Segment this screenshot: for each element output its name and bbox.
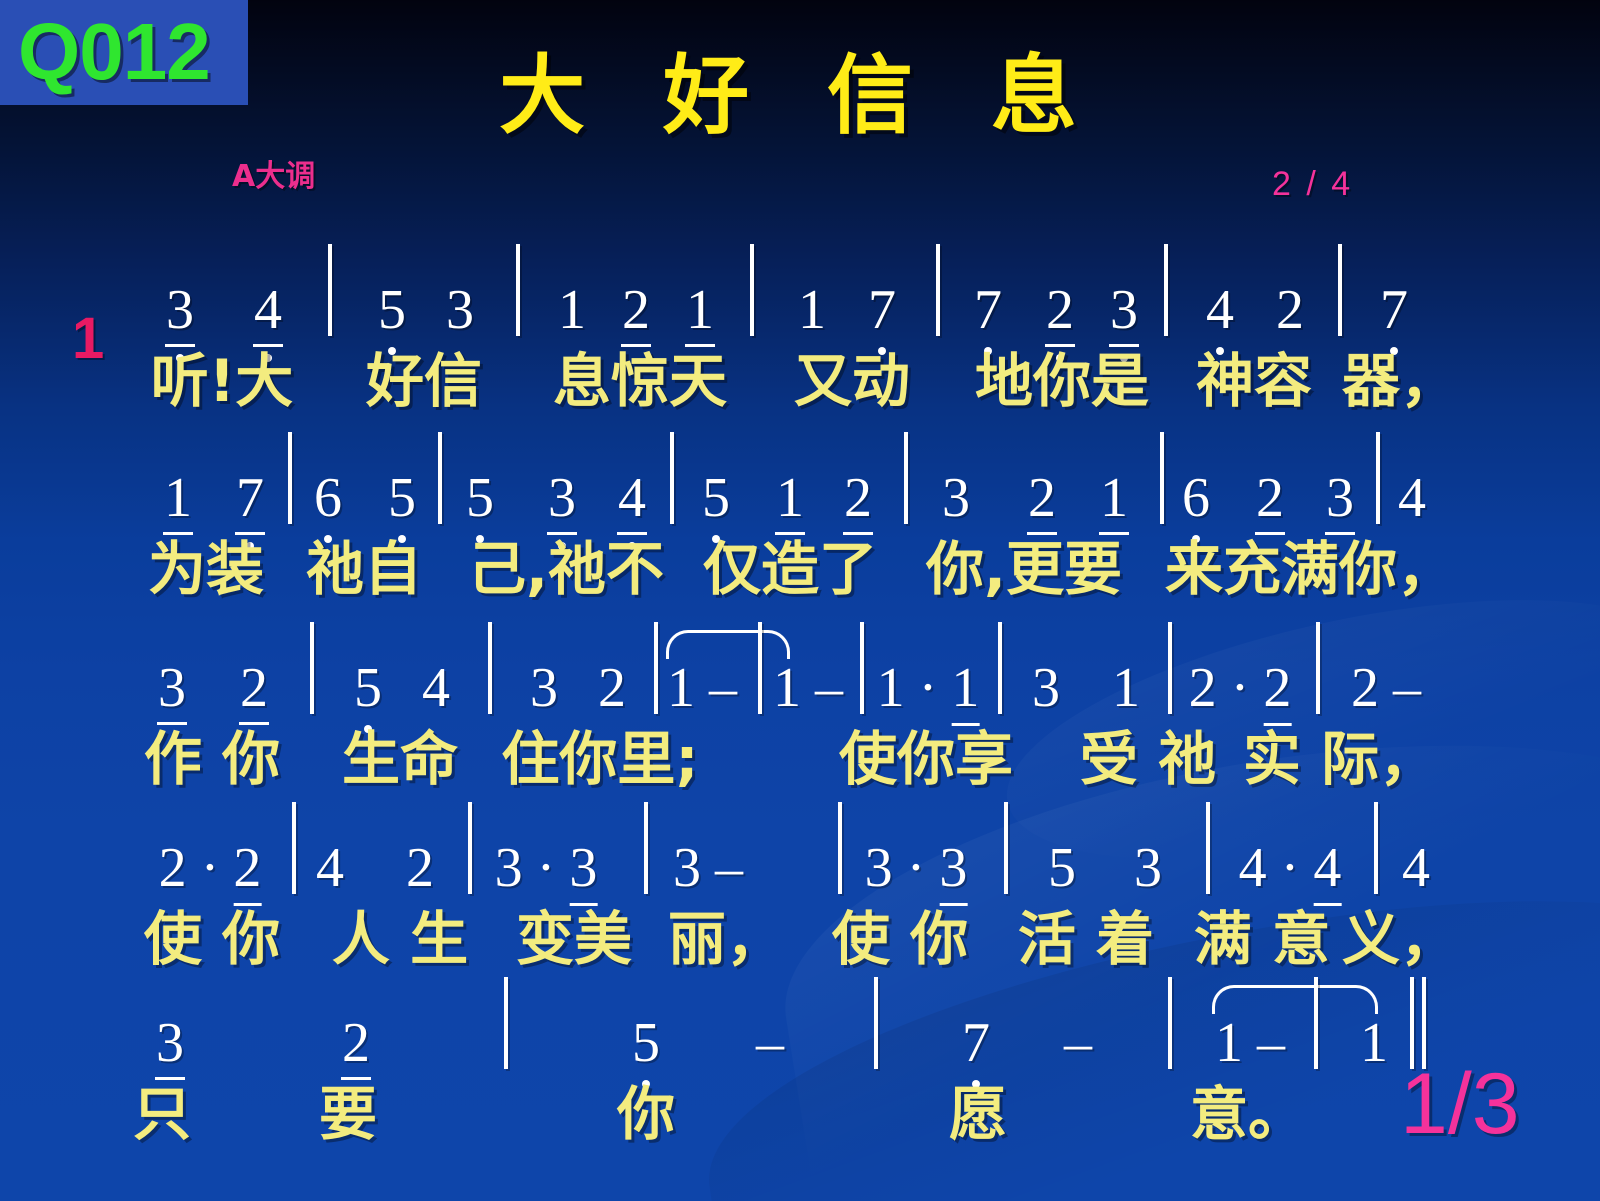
lyric-text: 人 生 xyxy=(332,908,468,970)
note: 3 xyxy=(548,470,576,526)
note: 3 – xyxy=(673,840,743,896)
key-signature-label: A大调 xyxy=(232,160,315,194)
note: 3 xyxy=(158,660,186,716)
verse-number-label: 1 xyxy=(72,308,104,370)
lyric-text: 听!大 xyxy=(151,350,293,412)
barline xyxy=(750,244,754,336)
barline xyxy=(1206,802,1210,894)
lyric-text: 地你是 xyxy=(975,350,1149,412)
lyric-text: 使 你 xyxy=(144,908,280,970)
barline xyxy=(468,802,472,894)
note: 5 xyxy=(388,470,416,526)
barline xyxy=(860,622,864,714)
note: 1 xyxy=(686,282,714,338)
barline xyxy=(654,622,658,714)
tie-arc xyxy=(666,630,790,659)
note: 5 xyxy=(354,660,382,716)
note: 3 xyxy=(1032,660,1060,716)
note: 7 xyxy=(962,1015,990,1071)
lyric-text: 为装 xyxy=(148,538,264,600)
note: 3 · 3 xyxy=(865,840,968,896)
lyric-text: 住你里; xyxy=(501,728,698,790)
lyric-text: 实 际， xyxy=(1243,728,1437,790)
barline xyxy=(1168,977,1172,1069)
note: 3 xyxy=(156,1015,184,1071)
page-title: 大 好 信 息 xyxy=(0,48,1600,144)
barline xyxy=(516,244,520,336)
note: 2 xyxy=(342,1015,370,1071)
note: 4 xyxy=(1402,840,1430,896)
note: 5 xyxy=(1048,840,1076,896)
note: 5 xyxy=(632,1015,660,1071)
note: 4 xyxy=(1206,282,1234,338)
lyric-text: 作 你 xyxy=(144,728,280,790)
barline xyxy=(838,802,842,894)
note: 2 xyxy=(1276,282,1304,338)
note: 5 xyxy=(702,470,730,526)
note: 1 xyxy=(1112,660,1140,716)
note: 1 xyxy=(776,470,804,526)
lyric-text: 使你享 xyxy=(839,728,1013,790)
barline xyxy=(936,244,940,336)
barline xyxy=(288,432,292,524)
note: 4 xyxy=(422,660,450,716)
lyric-text: 仅造了 xyxy=(703,538,877,600)
note: 1 – xyxy=(773,660,843,716)
lyric-text: 己,祂不 xyxy=(468,538,664,600)
barline xyxy=(438,432,442,524)
note: 2 xyxy=(406,840,434,896)
note: – xyxy=(1064,1015,1092,1071)
note: 2 xyxy=(844,470,872,526)
note: 2 xyxy=(1256,470,1284,526)
lyric-text: 息惊天 xyxy=(553,350,727,412)
barline xyxy=(1316,622,1320,714)
barline xyxy=(1314,977,1318,1069)
barline xyxy=(1004,802,1008,894)
barline xyxy=(1376,432,1380,524)
barline xyxy=(904,432,908,524)
note: 4 xyxy=(618,470,646,526)
note: 7 xyxy=(1380,282,1408,338)
lyric-text: 你,更要 xyxy=(926,538,1122,600)
lyric-text: 器， xyxy=(1342,350,1458,412)
note: 3 xyxy=(1134,840,1162,896)
lyric-text: 变美 xyxy=(516,908,632,970)
barline xyxy=(998,622,1002,714)
note: 4 · 4 xyxy=(1239,840,1342,896)
note: 2 xyxy=(1046,282,1074,338)
lyric-text: 来充满你， xyxy=(1165,538,1455,600)
note: 5 xyxy=(378,282,406,338)
note: 4 xyxy=(316,840,344,896)
note: 3 xyxy=(166,282,194,338)
note: 1 – xyxy=(1215,1015,1285,1071)
note: 3 xyxy=(942,470,970,526)
lyric-text: 使 你 xyxy=(832,908,968,970)
note: 3 · 3 xyxy=(495,840,598,896)
barline xyxy=(1168,622,1172,714)
note: 3 xyxy=(530,660,558,716)
note: 3 xyxy=(446,282,474,338)
final-double-barline xyxy=(1410,977,1430,1069)
note: 6 xyxy=(1182,470,1210,526)
barline xyxy=(504,977,508,1069)
lyric-text: 愿 xyxy=(949,1083,1007,1145)
note: 4 xyxy=(254,282,282,338)
barline xyxy=(1374,802,1378,894)
note: – xyxy=(756,1015,784,1071)
note: 1 – xyxy=(667,660,737,716)
barline xyxy=(874,977,878,1069)
note: 3 xyxy=(1110,282,1138,338)
lyric-text: 神容 xyxy=(1196,350,1312,412)
note: 2 – xyxy=(1351,660,1421,716)
lyric-text: 丽， xyxy=(668,908,784,970)
barline xyxy=(644,802,648,894)
barline xyxy=(488,622,492,714)
note: 3 xyxy=(1326,470,1354,526)
note: 7 xyxy=(974,282,1002,338)
note: 6 xyxy=(314,470,342,526)
barline xyxy=(1338,244,1342,336)
note: 7 xyxy=(236,470,264,526)
note: 2 xyxy=(240,660,268,716)
time-signature-label: 2 / 4 xyxy=(1272,165,1353,203)
lyric-text: 生命 xyxy=(342,728,458,790)
note: 1 xyxy=(1360,1015,1388,1071)
lyric-text: 满 意 xyxy=(1194,908,1330,970)
lyric-text: 你 xyxy=(617,1083,675,1145)
note: 1 xyxy=(558,282,586,338)
lyric-text: 活 着 xyxy=(1018,908,1154,970)
lyric-text: 义， xyxy=(1342,908,1458,970)
note: 2 xyxy=(598,660,626,716)
note: 1 xyxy=(164,470,192,526)
lyric-text: 受 祂 xyxy=(1080,728,1216,790)
barline xyxy=(328,244,332,336)
lyric-text: 好信 xyxy=(366,350,482,412)
lyric-text: 又动 xyxy=(794,350,910,412)
slide-canvas: Q012 大 好 信 息 A大调 2 / 4 1 1/3 34531211772… xyxy=(0,0,1600,1201)
barline xyxy=(1164,244,1168,336)
page-indicator-label: 1/3 xyxy=(1400,1058,1520,1150)
lyric-text: 要 xyxy=(319,1083,377,1145)
barline xyxy=(1160,432,1164,524)
lyric-text: 意。 xyxy=(1190,1083,1306,1145)
note: 2 xyxy=(622,282,650,338)
barline xyxy=(310,622,314,714)
lyric-text: 祂自 xyxy=(306,538,422,600)
note: 2 · 2 xyxy=(159,840,262,896)
note: 1 xyxy=(1100,470,1128,526)
note: 2 · 2 xyxy=(1189,660,1292,716)
note: 4 xyxy=(1398,470,1426,526)
note: 1 · 1 xyxy=(877,660,980,716)
lyric-text: 只 xyxy=(133,1083,191,1145)
note: 5 xyxy=(466,470,494,526)
note: 1 xyxy=(798,282,826,338)
tie-arc xyxy=(1212,985,1378,1014)
note: 2 xyxy=(1028,470,1056,526)
barline xyxy=(292,802,296,894)
barline xyxy=(670,432,674,524)
barline xyxy=(758,622,762,714)
note: 7 xyxy=(868,282,896,338)
